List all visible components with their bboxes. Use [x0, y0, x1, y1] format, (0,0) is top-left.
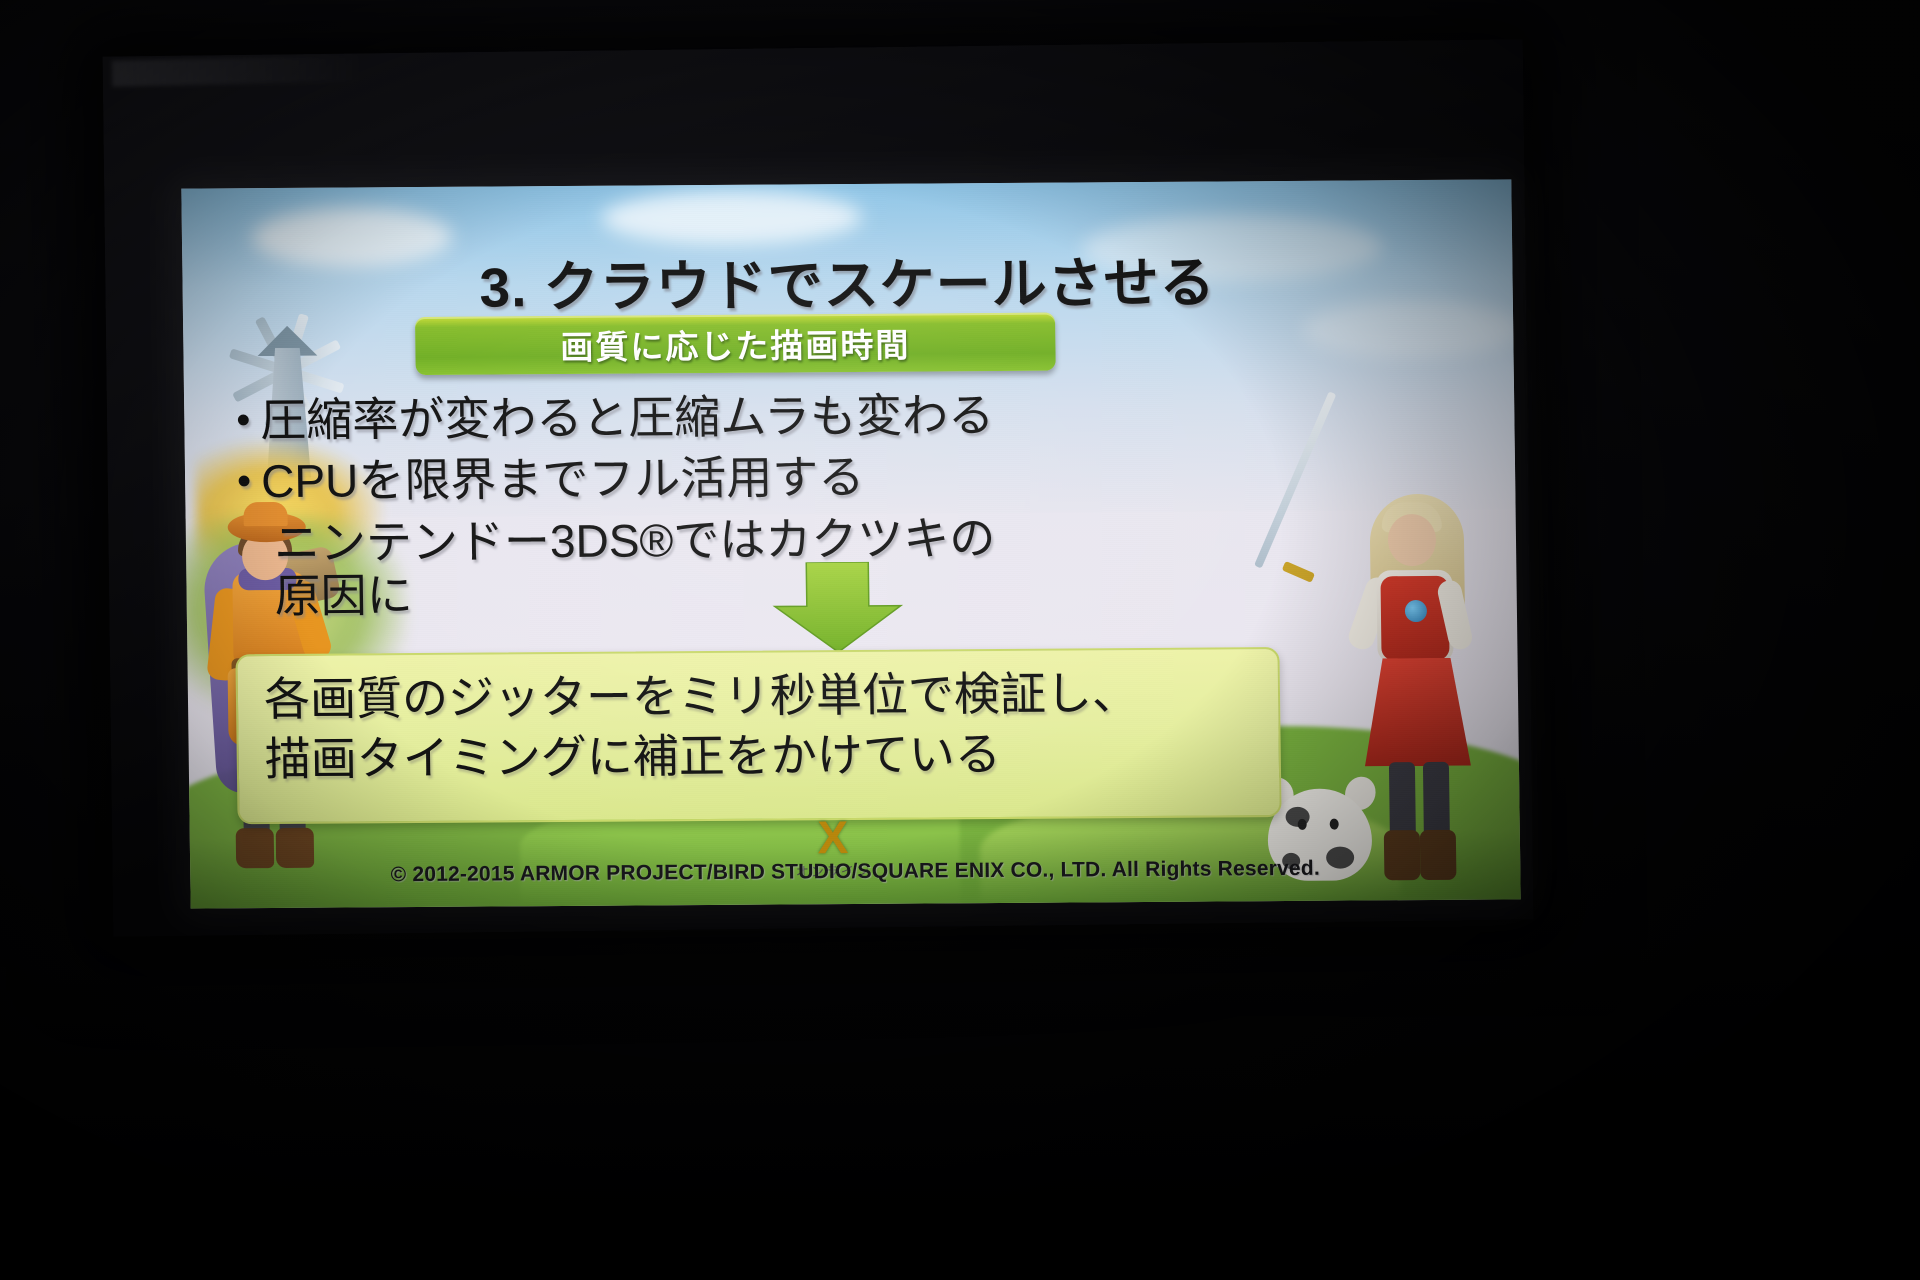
- bullet-subline: ニンテンドー3DS®ではカクツキの: [274, 510, 1259, 570]
- slide-title: 3. クラウドでスケールさせる: [182, 235, 1513, 324]
- conclusion-text: 各画質のジッターをミリ秒単位で検証し、 描画タイミングに補正をかけている: [264, 663, 1262, 790]
- bullet-item: • 圧縮率が変わると圧縮ムラも変わる: [236, 387, 1257, 447]
- dark-room-background: 3. クラウドでスケールさせる 画質に応じた描画時間 • 圧縮率が変わると圧縮ム…: [0, 0, 1920, 1280]
- projected-slide: 3. クラウドでスケールさせる 画質に応じた描画時間 • 圧縮率が変わると圧縮ム…: [181, 179, 1520, 908]
- bullet-text: 圧縮率が変わると圧縮ムラも変わる: [260, 389, 994, 447]
- bullet-list: • 圧縮率が変わると圧縮ムラも変わる • CPUを限界までフル活用する ニンテン…: [236, 387, 1259, 624]
- bullet-marker: •: [236, 400, 251, 440]
- bullet-marker: •: [237, 462, 252, 502]
- logo-mark: X: [768, 814, 899, 861]
- conclusion-box: 各画質のジッターをミリ秒単位で検証し、 描画タイミングに補正をかけている: [235, 647, 1281, 824]
- conclusion-line: 各画質のジッターをミリ秒単位で検証し、: [264, 663, 1261, 730]
- bullet-text: CPUを限界までフル活用する: [261, 451, 865, 509]
- section-banner-label: 画質に応じた描画時間: [415, 313, 1056, 375]
- down-arrow-icon: [762, 562, 913, 653]
- copyright-notice: © 2012-2015 ARMOR PROJECT/BIRD STUDIO/SQ…: [190, 855, 1520, 888]
- slide-content-layer: 3. クラウドでスケールさせる 画質に応じた描画時間 • 圧縮率が変わると圧縮ム…: [181, 179, 1520, 908]
- screen-edge-highlight: [112, 55, 362, 86]
- section-banner: 画質に応じた描画時間: [415, 313, 1056, 375]
- conclusion-line: 描画タイミングに補正をかけている: [264, 723, 1261, 790]
- bullet-item: • CPUを限界までフル活用する: [237, 449, 1258, 509]
- slide-canvas: 3. クラウドでスケールさせる 画質に応じた描画時間 • 圧縮率が変わると圧縮ム…: [181, 179, 1520, 908]
